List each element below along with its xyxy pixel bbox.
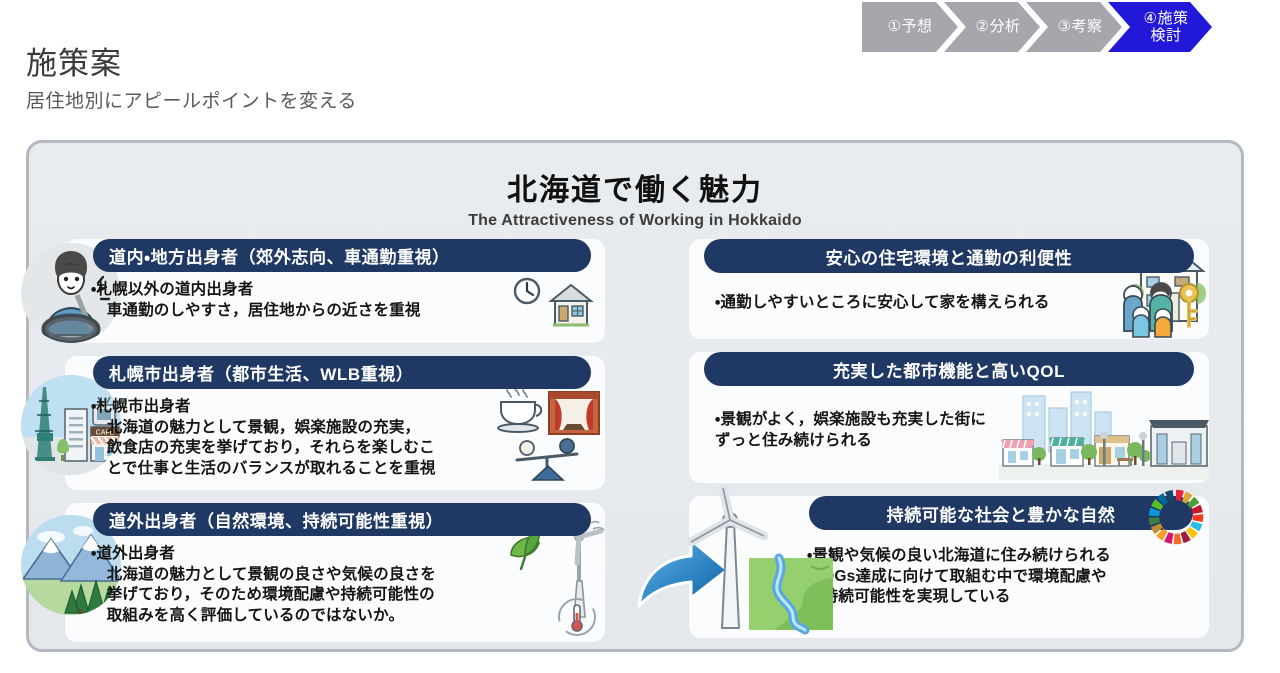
- left-card-1-body: ・札幌以外の道内出身者 車通勤のしやすさ，居住地からの近さを重視: [73, 280, 597, 321]
- right-column: 安心の住宅環境と通勤の利便性 ・通勤しやすいところに安心して家を構えられる: [689, 239, 1209, 651]
- breadcrumb: ①予想 ②分析 ③考察 ④施策 検討: [862, 2, 1212, 52]
- panel-heading: 北海道で働く魅力 The Attractiveness of Working i…: [29, 165, 1241, 230]
- right-card-2-title: 充実した都市機能と高いQOL: [704, 352, 1194, 386]
- panel-heading-en: The Attractiveness of Working in Hokkaid…: [29, 212, 1241, 230]
- main-panel: 北海道で働く魅力 The Attractiveness of Working i…: [26, 140, 1244, 652]
- page-title: 施策案: [26, 38, 122, 83]
- breadcrumb-step-2[interactable]: ②分析: [944, 2, 1040, 52]
- right-arrow-icon: [629, 528, 739, 633]
- left-card-3-title: 道外出身者（自然環境、持続可能性重視）: [93, 503, 591, 536]
- right-card-1-title: 安心の住宅環境と通勤の利便性: [704, 239, 1194, 273]
- breadcrumb-step-4-label: ④施策 検討: [1144, 10, 1189, 45]
- breadcrumb-step-2-label: ②分析: [976, 18, 1021, 35]
- page-subtitle: 居住地別にアピールポイントを変える: [26, 86, 357, 113]
- left-card-2[interactable]: 札幌市出身者（都市生活、WLB重視） ・札幌市出身者 北海道の魅力として景観，娯…: [65, 356, 605, 490]
- left-card-1[interactable]: 道内・地方出身者（郊外志向、車通勤重視） ・札幌以外の道内出身者 車通勤のしやす…: [65, 239, 605, 343]
- left-card-3-body: ・道外出身者 北海道の魅力として景観の良さや気候の良さを 挙げており，そのため環…: [73, 544, 597, 626]
- left-column: 道内・地方出身者（郊外志向、車通勤重視） ・札幌以外の道内出身者 車通勤のしやす…: [65, 239, 605, 655]
- right-card-3-title: 持続可能な社会と豊かな自然: [809, 496, 1193, 530]
- right-card-1[interactable]: 安心の住宅環境と通勤の利便性 ・通勤しやすいところに安心して家を構えられる: [689, 239, 1209, 339]
- panel-heading-jp: 北海道で働く魅力: [29, 165, 1241, 209]
- breadcrumb-step-3[interactable]: ③考察: [1026, 2, 1122, 52]
- right-card-3-body: ・景観や気候の良い北海道に住み続けられる ・SDGs達成に向けて取組む中で環境配…: [697, 538, 1201, 608]
- left-card-1-title: 道内・地方出身者（郊外志向、車通勤重視）: [93, 239, 591, 272]
- bench: [1117, 458, 1133, 466]
- right-card-2-body: ・景観がよく，娯楽施設も充実した街に ずっと住み続けられる: [697, 394, 1201, 451]
- left-card-2-title: 札幌市出身者（都市生活、WLB重視）: [93, 356, 591, 389]
- left-card-2-body: ・札幌市出身者 北海道の魅力として景観，娯楽施設の充実， 飲食店の充実を挙げてお…: [73, 397, 597, 479]
- right-card-3[interactable]: 持続可能な社会と豊かな自然 ・景観や気候の良い北海道に住み続けられる ・SDGs…: [689, 496, 1209, 638]
- breadcrumb-step-3-label: ③考察: [1058, 18, 1103, 35]
- breadcrumb-step-1-label: ①予想: [888, 18, 933, 35]
- breadcrumb-step-4[interactable]: ④施策 検討: [1108, 2, 1212, 52]
- right-card-2[interactable]: 充実した都市機能と高いQOL ・景観がよく，娯楽施設も充実した街に ずっと住み続…: [689, 352, 1209, 483]
- breadcrumb-step-1[interactable]: ①予想: [862, 2, 958, 52]
- left-card-3[interactable]: 道外出身者（自然環境、持続可能性重視） ・道外出身者 北海道の魅力として景観の良…: [65, 503, 605, 642]
- right-card-1-body: ・通勤しやすいところに安心して家を構えられる: [697, 281, 1201, 314]
